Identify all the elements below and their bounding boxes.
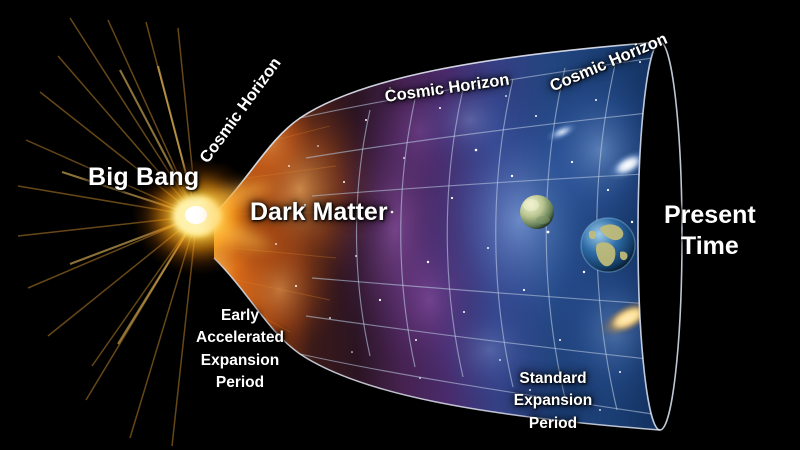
label-dark-matter: Dark Matter	[250, 196, 388, 229]
earth-planet	[581, 218, 635, 272]
small-planet	[520, 195, 554, 229]
label-present-time: Present Time	[664, 200, 756, 263]
label-big-bang: Big Bang	[88, 163, 199, 193]
cosmology-diagram: Big Bang Dark Matter Present Time Early …	[0, 0, 800, 450]
label-standard-expansion-period: Standard Expansion Period	[478, 368, 628, 435]
flare-center	[185, 206, 207, 224]
label-early-accelerated-expansion-period: Early Accelerated Expansion Period	[160, 305, 320, 395]
